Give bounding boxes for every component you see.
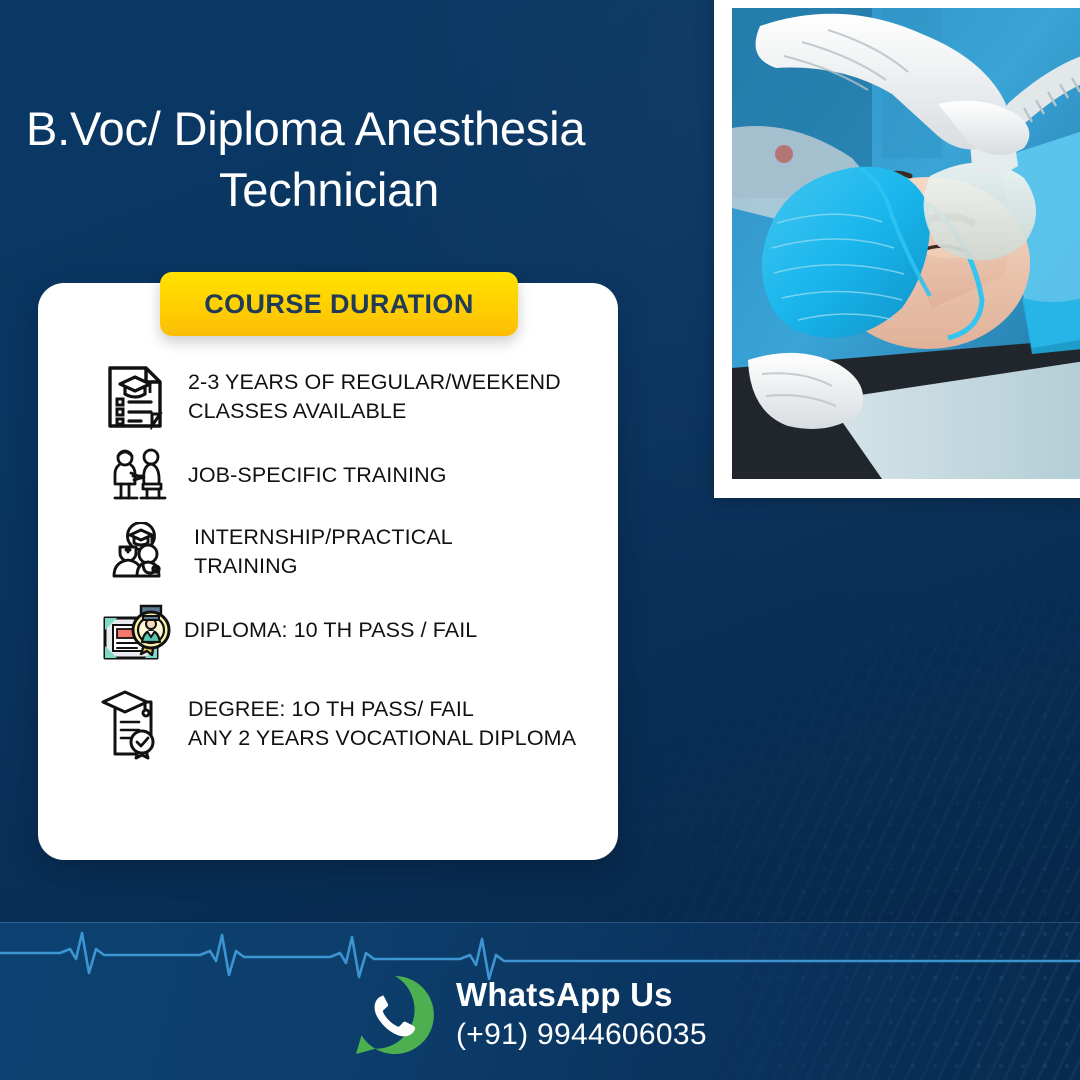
list-item-line2: ANY 2 YEARS VOCATIONAL DIPLOMA xyxy=(188,726,576,750)
list-item-line1: INTERNSHIP/PRACTICAL xyxy=(194,525,453,549)
course-duration-badge-label: COURSE DURATION xyxy=(204,289,474,320)
list-item-text: DEGREE: 1O TH PASS/ FAIL ANY 2 YEARS VOC… xyxy=(188,695,576,753)
whatsapp-contact[interactable]: WhatsApp Us (+91) 9944606035 xyxy=(352,972,707,1058)
whatsapp-title: WhatsApp Us xyxy=(456,977,707,1013)
whatsapp-text: WhatsApp Us (+91) 9944606035 xyxy=(456,977,707,1053)
list-item: JOB-SPECIFIC TRAINING xyxy=(38,430,618,506)
page-title: B.Voc/ Diploma Anesthesia Technician xyxy=(18,98,682,220)
page-title-line2: Technician xyxy=(18,159,682,220)
job-interview-icon xyxy=(106,446,172,506)
medical-staff-graduate-icon xyxy=(106,522,172,582)
list-item-line1: DEGREE: 1O TH PASS/ FAIL xyxy=(188,697,474,721)
anesthesia-patient-photo xyxy=(732,8,1080,479)
list-item-line1: JOB-SPECIFIC TRAINING xyxy=(188,463,447,487)
list-item: DIPLOMA: 10 TH PASS / FAIL xyxy=(38,582,618,664)
document-graduation-checklist-icon xyxy=(100,364,170,430)
list-item-text: INTERNSHIP/PRACTICAL TRAINING xyxy=(194,523,453,581)
list-item: INTERNSHIP/PRACTICAL TRAINING xyxy=(38,506,618,582)
diploma-seal-icon xyxy=(96,688,168,760)
list-item-line2: CLASSES AVAILABLE xyxy=(188,399,406,423)
list-item-text: JOB-SPECIFIC TRAINING xyxy=(188,461,447,490)
page-title-line1: B.Voc/ Diploma Anesthesia xyxy=(18,98,682,159)
list-item-line1: 2-3 YEARS OF REGULAR/WEEKEND xyxy=(188,370,561,394)
certificate-medal-icon xyxy=(98,598,174,664)
list-item-text: DIPLOMA: 10 TH PASS / FAIL xyxy=(184,616,477,645)
list-item: 2-3 YEARS OF REGULAR/WEEKEND CLASSES AVA… xyxy=(38,352,618,430)
list-item-line1: DIPLOMA: 10 TH PASS / FAIL xyxy=(184,618,477,642)
photo-frame xyxy=(714,0,1080,498)
poster-root: B.Voc/ Diploma Anesthesia Technician xyxy=(0,0,1080,1080)
feature-list: 2-3 YEARS OF REGULAR/WEEKEND CLASSES AVA… xyxy=(38,352,618,760)
list-item-text: 2-3 YEARS OF REGULAR/WEEKEND CLASSES AVA… xyxy=(188,368,561,426)
list-item-line2: TRAINING xyxy=(194,554,298,578)
whatsapp-icon[interactable] xyxy=(352,972,438,1058)
list-item: DEGREE: 1O TH PASS/ FAIL ANY 2 YEARS VOC… xyxy=(38,664,618,760)
whatsapp-phone[interactable]: (+91) 9944606035 xyxy=(456,1017,707,1054)
course-duration-badge: COURSE DURATION xyxy=(160,272,518,336)
